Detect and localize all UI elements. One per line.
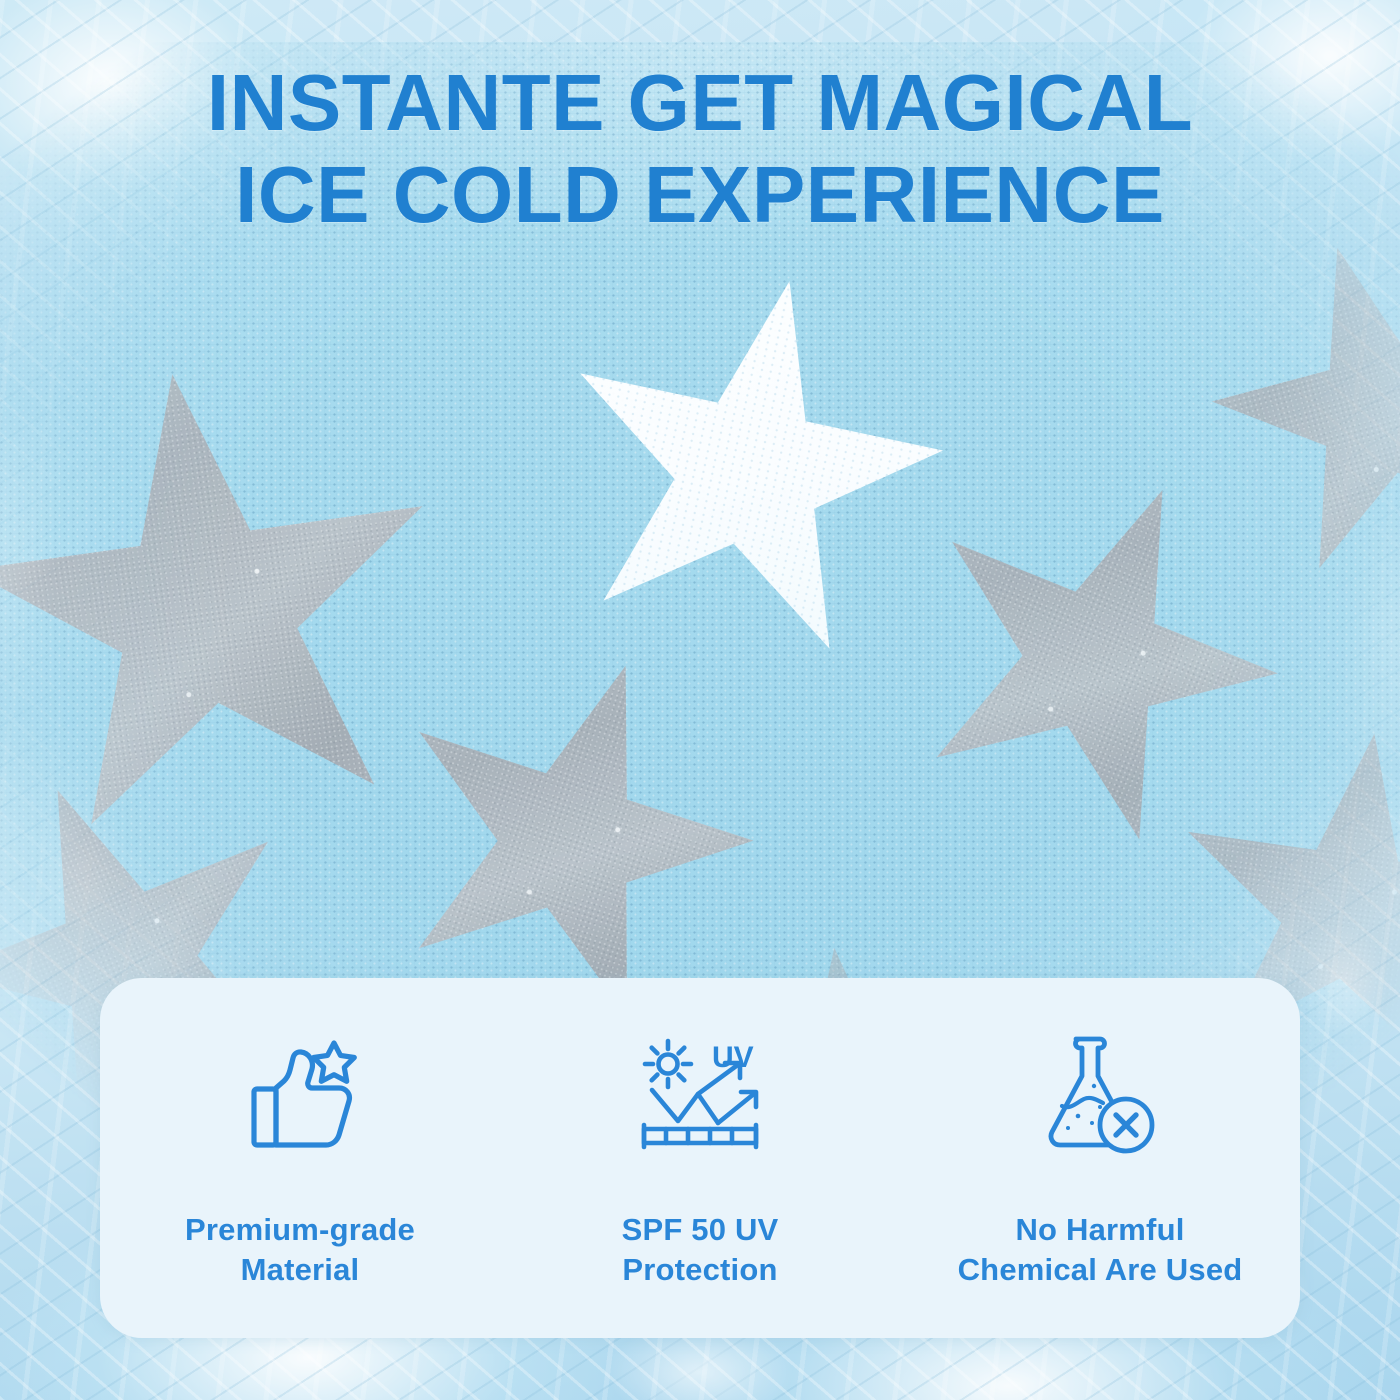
page-title: INSTANTE GET MAGICAL ICE COLD EXPERIENCE bbox=[0, 62, 1400, 235]
feature-caption-line-1: Premium-grade bbox=[185, 1210, 415, 1250]
feature-item-uv-protection: UV S bbox=[520, 978, 880, 1289]
thumbs-up-star-icon bbox=[242, 1036, 358, 1154]
uv-protection-icon: UV bbox=[638, 1036, 762, 1154]
feature-caption: Premium-grade Material bbox=[185, 1210, 415, 1289]
feature-caption-line-2: Chemical Are Used bbox=[958, 1250, 1243, 1290]
headline-line-2: ICE COLD EXPERIENCE bbox=[0, 154, 1400, 236]
no-chemical-flask-icon bbox=[1042, 1036, 1158, 1154]
feature-caption-line-2: Protection bbox=[622, 1250, 779, 1290]
feature-caption-line-2: Material bbox=[185, 1250, 415, 1290]
feature-card: Premium-grade Material bbox=[100, 978, 1300, 1338]
feature-caption: SPF 50 UV Protection bbox=[622, 1210, 779, 1289]
feature-caption: No Harmful Chemical Are Used bbox=[958, 1210, 1243, 1289]
headline-line-1: INSTANTE GET MAGICAL bbox=[0, 62, 1400, 144]
feature-caption-line-1: SPF 50 UV bbox=[622, 1210, 779, 1250]
feature-item-no-chemicals: No Harmful Chemical Are Used bbox=[920, 978, 1280, 1289]
feature-item-premium-material: Premium-grade Material bbox=[120, 978, 480, 1289]
feature-caption-line-1: No Harmful bbox=[958, 1210, 1243, 1250]
promo-banner: INSTANTE GET MAGICAL ICE COLD EXPERIENCE… bbox=[0, 0, 1400, 1400]
